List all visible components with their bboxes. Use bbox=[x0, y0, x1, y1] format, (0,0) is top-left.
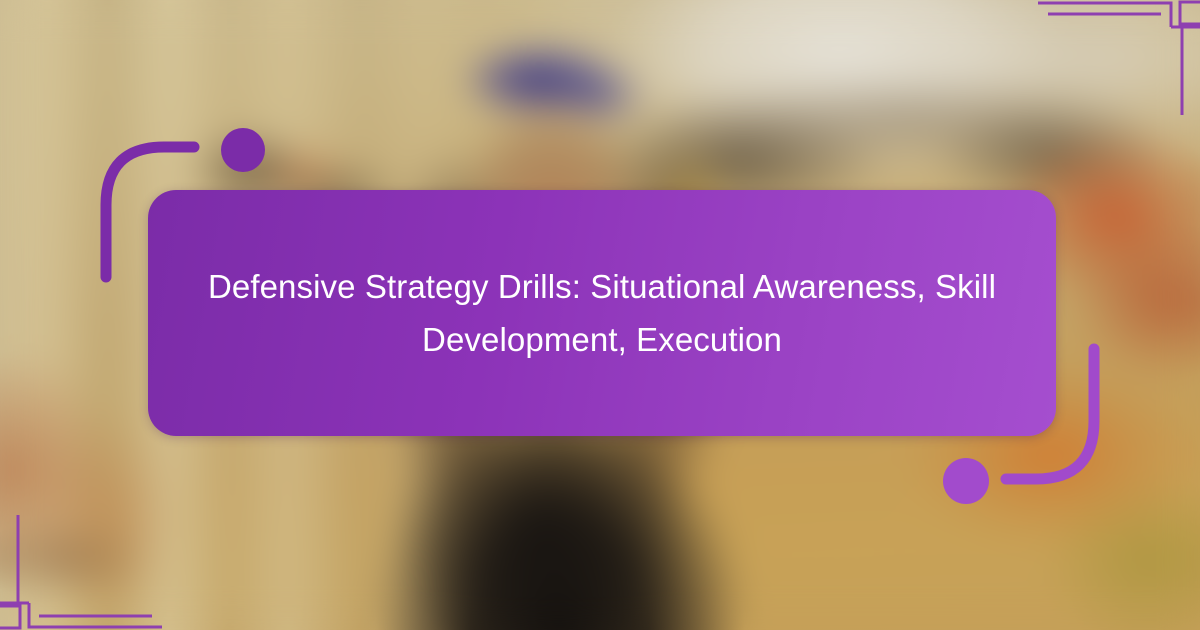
title-card: Defensive Strategy Drills: Situational A… bbox=[148, 190, 1056, 436]
page-title: Defensive Strategy Drills: Situational A… bbox=[206, 260, 998, 367]
social-card-canvas: Defensive Strategy Drills: Situational A… bbox=[0, 0, 1200, 630]
